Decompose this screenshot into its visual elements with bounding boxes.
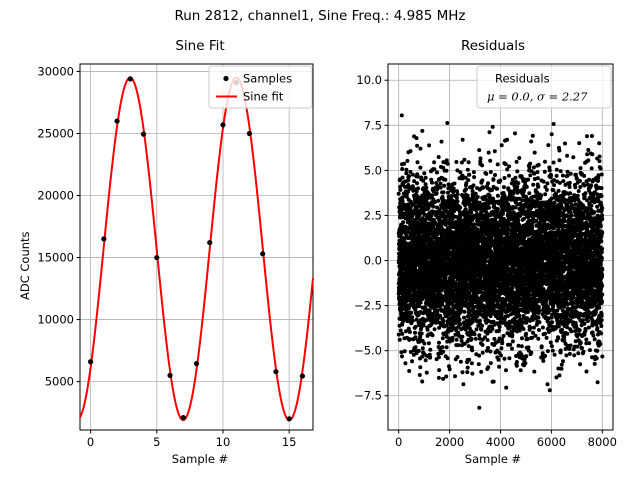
residual-point	[406, 178, 410, 182]
residual-point	[417, 349, 421, 353]
residual-point	[503, 176, 507, 180]
residual-point	[437, 376, 441, 380]
residual-point	[403, 361, 407, 365]
residual-point	[459, 360, 463, 364]
residual-point	[498, 179, 502, 183]
residual-point	[503, 357, 507, 361]
residual-point	[422, 342, 426, 346]
residual-point	[504, 368, 508, 372]
residual-point	[469, 211, 473, 215]
residual-point	[442, 190, 446, 194]
residual-point	[455, 338, 459, 342]
residual-point	[464, 187, 468, 191]
residual-point	[409, 311, 413, 315]
residual-point	[499, 354, 503, 358]
residual-point	[466, 168, 470, 172]
residual-point	[480, 178, 484, 182]
residual-point	[472, 222, 476, 226]
residual-point	[447, 182, 451, 186]
residual-point	[446, 191, 450, 195]
residual-point	[484, 172, 488, 176]
residual-point	[471, 189, 475, 193]
residual-point	[478, 319, 482, 323]
residual-point	[472, 183, 476, 187]
residual-point	[400, 167, 404, 171]
residual-point	[437, 355, 441, 359]
residual-point	[515, 360, 519, 364]
residual-point	[442, 184, 446, 188]
residual-point	[422, 171, 426, 175]
residual-point	[492, 380, 496, 384]
residual-point	[432, 160, 436, 164]
residual-point	[416, 175, 420, 179]
residual-point	[439, 186, 443, 190]
residual-point	[427, 341, 431, 345]
residual-point	[414, 345, 418, 349]
residual-point	[516, 304, 520, 308]
residual-point	[470, 361, 474, 365]
residual-point	[488, 350, 492, 354]
residual-point	[520, 336, 524, 340]
residual-point	[515, 364, 519, 368]
residual-point	[497, 358, 501, 362]
xtick-label: 8000	[588, 435, 617, 449]
residual-point	[439, 182, 443, 186]
residual-point	[456, 192, 460, 196]
residual-point	[470, 348, 474, 352]
residual-point	[440, 303, 444, 307]
figure-canvas: Run 2812, channel1, Sine Freq.: 4.985 MH…	[0, 0, 640, 480]
residual-point	[499, 346, 503, 350]
residual-point	[430, 181, 434, 185]
residual-point	[467, 173, 471, 177]
residual-point	[461, 138, 465, 142]
residual-point	[492, 337, 496, 341]
residual-point	[490, 327, 494, 331]
residual-point	[405, 159, 409, 163]
residual-point	[507, 174, 511, 178]
residual-point	[436, 199, 440, 203]
residual-point	[457, 343, 461, 347]
residual-point	[400, 332, 404, 336]
residual-point	[510, 334, 514, 338]
residual-point	[496, 207, 500, 211]
residual-point	[443, 178, 447, 182]
residual-point	[403, 349, 407, 353]
residual-point	[493, 173, 497, 177]
residual-point	[445, 345, 449, 349]
residual-point	[461, 370, 465, 374]
residual-point	[441, 319, 445, 323]
residual-point	[480, 324, 484, 328]
residual-point	[467, 160, 471, 164]
residual-point	[465, 370, 469, 374]
residuals-plot-area[interactable]: 02000400060008000−7.5−5.0−2.50.02.55.07.…	[0, 0, 640, 480]
residual-point	[488, 159, 492, 163]
residual-point	[460, 335, 464, 339]
residual-point	[432, 167, 436, 171]
residual-point	[440, 140, 444, 144]
residual-point	[407, 327, 411, 331]
residual-point	[422, 323, 426, 327]
residual-point	[491, 125, 495, 129]
ytick-label: −5.0	[354, 344, 382, 358]
residual-point	[519, 368, 523, 372]
residual-point	[458, 318, 462, 322]
residual-point	[451, 336, 455, 340]
residual-point	[416, 186, 420, 190]
residual-point	[428, 348, 432, 352]
residual-point	[474, 192, 478, 196]
residual-point	[517, 156, 521, 160]
residual-point	[475, 327, 479, 331]
residual-point	[397, 192, 401, 196]
residual-point	[516, 181, 520, 185]
residual-point	[493, 149, 497, 153]
residual-point	[472, 175, 476, 179]
residual-point	[504, 162, 508, 166]
residual-point	[435, 309, 439, 313]
residual-point	[419, 301, 423, 305]
residual-point	[507, 164, 511, 168]
residual-point	[400, 354, 404, 358]
residual-point	[409, 149, 413, 153]
residual-point	[437, 155, 441, 159]
residual-point	[463, 310, 467, 314]
residual-point	[486, 338, 490, 342]
residual-point	[454, 160, 458, 164]
residual-point	[520, 344, 524, 348]
residual-point	[444, 375, 448, 379]
residual-point	[455, 196, 459, 200]
residual-point	[466, 178, 470, 182]
residual-point	[515, 169, 519, 173]
residual-point	[496, 162, 500, 166]
residual-point	[502, 334, 506, 338]
residual-point	[480, 163, 484, 167]
residual-point	[486, 181, 490, 185]
residual-point	[408, 330, 412, 334]
residual-point	[441, 336, 445, 340]
residual-point	[402, 162, 406, 166]
residual-point	[411, 184, 415, 188]
xtick-label: 6000	[537, 435, 566, 449]
residual-point	[476, 195, 480, 199]
residual-point	[420, 332, 424, 336]
residual-point	[496, 194, 500, 198]
residual-point	[415, 181, 419, 185]
residual-point	[477, 406, 481, 410]
residual-point	[399, 329, 403, 333]
residual-point	[458, 170, 462, 174]
residual-point	[453, 374, 457, 378]
residual-point	[419, 147, 423, 151]
residual-point	[495, 187, 499, 191]
residual-point	[497, 365, 501, 369]
residual-point	[510, 347, 514, 351]
residual-point	[437, 368, 441, 372]
ytick-label: 7.5	[364, 118, 382, 132]
residual-point	[415, 136, 419, 140]
residual-point	[477, 362, 481, 366]
residual-point	[407, 174, 411, 178]
residual-point	[451, 190, 455, 194]
xtick-label: 2000	[435, 435, 464, 449]
residual-point	[435, 191, 439, 195]
residual-point	[453, 182, 457, 186]
residual-point	[513, 131, 517, 135]
residual-point	[505, 138, 509, 142]
residual-point	[498, 325, 502, 329]
residual-point	[500, 143, 504, 147]
residual-point	[446, 356, 450, 360]
residual-point	[421, 346, 425, 350]
residual-point	[487, 206, 491, 210]
residual-point	[466, 366, 470, 370]
residual-point	[502, 185, 506, 189]
residual-point	[410, 315, 414, 319]
residual-point	[517, 314, 521, 318]
residual-point	[428, 356, 432, 360]
residual-point	[479, 156, 483, 160]
residual-point	[458, 206, 462, 210]
residual-point	[504, 386, 508, 390]
residual-point	[424, 358, 428, 362]
residual-point	[481, 186, 485, 190]
residual-point	[426, 328, 430, 332]
residual-point	[448, 367, 452, 371]
residual-point	[464, 207, 468, 211]
residual-point	[479, 328, 483, 332]
residual-point	[452, 187, 456, 191]
residual-point	[404, 168, 408, 172]
residual-point	[479, 370, 483, 374]
residual-point	[477, 333, 481, 337]
residual-point	[424, 176, 428, 180]
residual-point	[398, 338, 402, 342]
ytick-label: 2.5	[364, 208, 382, 222]
residual-point	[401, 220, 405, 224]
residual-point	[460, 339, 464, 343]
residual-point	[430, 194, 434, 198]
residual-point	[462, 158, 466, 162]
residual-point	[418, 365, 422, 369]
residual-point	[398, 188, 402, 192]
residual-point	[435, 171, 439, 175]
residual-point	[427, 143, 431, 147]
ytick-label: 10.0	[356, 73, 382, 87]
residual-point	[397, 333, 401, 337]
residual-point	[446, 162, 450, 166]
residual-point	[415, 144, 419, 148]
residual-point	[470, 372, 474, 376]
residual-point	[474, 337, 478, 341]
residual-point	[508, 343, 512, 347]
ytick-label: 5.0	[364, 163, 382, 177]
ytick-label: −2.5	[354, 299, 382, 313]
residual-point	[441, 350, 445, 354]
residual-point	[489, 361, 493, 365]
residual-point	[445, 121, 449, 125]
residual-point	[514, 176, 518, 180]
residual-point	[410, 359, 414, 363]
residual-point	[416, 160, 420, 164]
residual-point	[497, 328, 501, 332]
residual-point	[473, 332, 477, 336]
residual-point	[462, 316, 466, 320]
residual-point	[456, 199, 460, 203]
residual-point	[433, 327, 437, 331]
residual-point	[411, 319, 415, 323]
residual-point	[488, 130, 492, 134]
residual-point	[413, 331, 417, 335]
residual-point	[486, 365, 490, 369]
residual-point	[401, 176, 405, 180]
residual-point	[481, 351, 485, 355]
residual-point	[491, 177, 495, 181]
residual-point	[431, 205, 435, 209]
residual-point	[489, 170, 493, 174]
residual-point	[481, 343, 485, 347]
xtick-label: 0	[395, 435, 402, 449]
residual-point	[507, 356, 511, 360]
residual-point	[445, 158, 449, 162]
residual-point	[470, 337, 474, 341]
residual-point	[424, 186, 428, 190]
residual-point	[515, 160, 519, 164]
residual-point	[440, 345, 444, 349]
residual-point	[445, 169, 449, 173]
residual-point	[420, 129, 424, 133]
residual-point	[420, 380, 424, 384]
residual-point	[500, 340, 504, 344]
residual-point	[418, 373, 422, 377]
residual-point	[407, 369, 411, 373]
residual-point	[479, 309, 483, 313]
residual-point	[477, 354, 481, 358]
residual-point	[411, 173, 415, 177]
residual-point	[431, 315, 435, 319]
residual-point	[466, 194, 470, 198]
residual-point	[414, 325, 418, 329]
residual-point	[461, 382, 465, 386]
residual-point	[486, 346, 490, 350]
residual-point	[472, 170, 476, 174]
residual-point	[431, 333, 435, 337]
ytick-label: 0.0	[364, 254, 382, 268]
residual-point	[437, 341, 441, 345]
residual-point	[515, 185, 519, 189]
residual-point	[425, 371, 429, 375]
residual-point	[511, 339, 515, 343]
residual-point	[459, 322, 463, 326]
residual-point	[477, 148, 481, 152]
ytick-label: −7.5	[354, 389, 382, 403]
residual-point	[467, 358, 471, 362]
residual-point	[418, 166, 422, 170]
residual-point	[487, 151, 491, 155]
residual-point	[400, 113, 404, 117]
residual-point	[456, 355, 460, 359]
xtick-label: 4000	[486, 435, 515, 449]
residual-point	[424, 182, 428, 186]
